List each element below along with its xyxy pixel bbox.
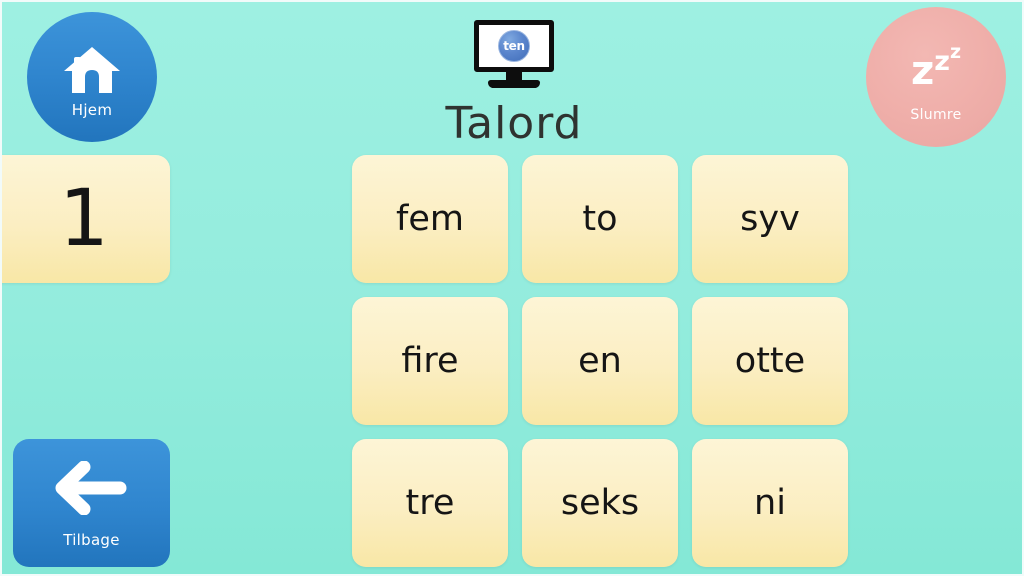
word-tile-grid: fem to syv fire en otte tre seks ni [352,155,848,567]
word-tile-label: to [582,202,617,237]
word-tile[interactable]: to [522,155,678,283]
tv-screen: ten [474,20,554,72]
word-tile-label: fem [396,202,464,237]
word-tile[interactable]: tre [352,439,508,567]
word-tile[interactable]: en [522,297,678,425]
word-tile[interactable]: syv [692,155,848,283]
word-tile-label: tre [406,486,455,521]
word-tile[interactable]: fem [352,155,508,283]
number-card-value: 1 [45,180,109,258]
zzz-large: z [911,48,934,94]
word-tile[interactable]: ni [692,439,848,567]
ten-badge-label: ten [503,39,525,53]
zzz-small: z [950,41,961,63]
arrow-left-icon [54,461,130,515]
sleep-button-label: Slumre [910,107,961,123]
word-tile[interactable]: fire [352,297,508,425]
word-tile[interactable]: otte [692,297,848,425]
zzz-medium: z [934,46,950,77]
sleep-button[interactable]: zzz Slumre [866,7,1006,147]
sleep-zzz-icon: zzz [911,43,961,91]
word-tile-label: ni [754,486,786,521]
back-button-label: Tilbage [63,531,120,549]
word-tile-label: seks [561,486,639,521]
ten-badge: ten [498,30,530,62]
word-tile-label: otte [735,344,805,379]
page-title: Talord [446,98,583,149]
word-tile-label: en [578,344,622,379]
word-tile[interactable]: seks [522,439,678,567]
word-tile-label: syv [740,202,800,237]
number-card[interactable]: 1 [0,155,170,283]
tv-monitor-icon: ten [466,20,562,92]
back-button[interactable]: Tilbage [13,439,170,567]
tv-stand-base [488,80,540,88]
app-root: Hjem ten Talord zzz Slumre 1 [0,0,1024,576]
word-tile-label: fire [401,344,458,379]
